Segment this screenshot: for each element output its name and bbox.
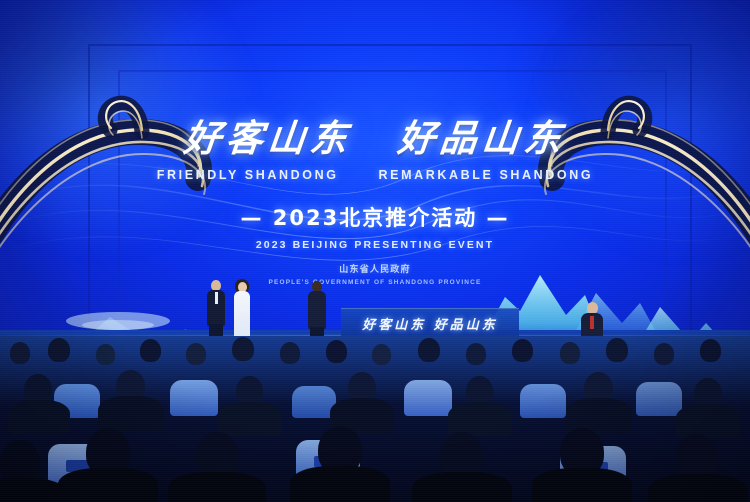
audience-head [186, 343, 206, 365]
audience-shoulders [8, 400, 70, 434]
audience-shoulders [218, 402, 282, 436]
audience-head [418, 338, 440, 362]
audience-shoulders-front [412, 472, 512, 502]
audience-head [560, 342, 580, 364]
audience-head [96, 344, 115, 365]
podium-sign-cn: 好客山东 好品山东 [362, 314, 498, 333]
audience-head [466, 343, 486, 365]
chair-cover [520, 384, 566, 418]
speaker-at-podium [306, 281, 328, 343]
chair-cover [636, 382, 682, 416]
audience-head [326, 340, 347, 363]
chair-cover [404, 380, 452, 416]
audience-shoulders [448, 402, 512, 436]
audience-head [372, 344, 391, 365]
audience-head [140, 339, 161, 362]
audience-head [48, 338, 70, 362]
event-stage-photo: 好客山东 好品山东 FRIENDLY SHANDONG REMARKABLE S… [0, 0, 750, 502]
audience-head [232, 337, 254, 361]
audience-shoulders-front [290, 466, 390, 502]
host-male [205, 280, 227, 342]
audience-shoulders [98, 396, 164, 432]
audience-head [606, 338, 628, 362]
audience-shoulders-front [168, 472, 266, 502]
audience-head [512, 339, 533, 362]
gold-ribbon-arc-right [500, 0, 750, 340]
audience-head [654, 343, 674, 365]
audience-head [280, 342, 300, 364]
audience-shoulders [676, 404, 740, 438]
audience-area [0, 336, 750, 502]
audience-shoulders-front [648, 474, 748, 502]
audience-head [700, 339, 721, 362]
host-female [232, 280, 252, 342]
audience-head [10, 342, 30, 364]
audience-shoulders-front [532, 468, 632, 502]
led-backdrop-wall: 好客山东 好品山东 FRIENDLY SHANDONG REMARKABLE S… [0, 0, 750, 360]
chair-cover [170, 380, 218, 416]
audience-shoulders-front [58, 468, 158, 502]
